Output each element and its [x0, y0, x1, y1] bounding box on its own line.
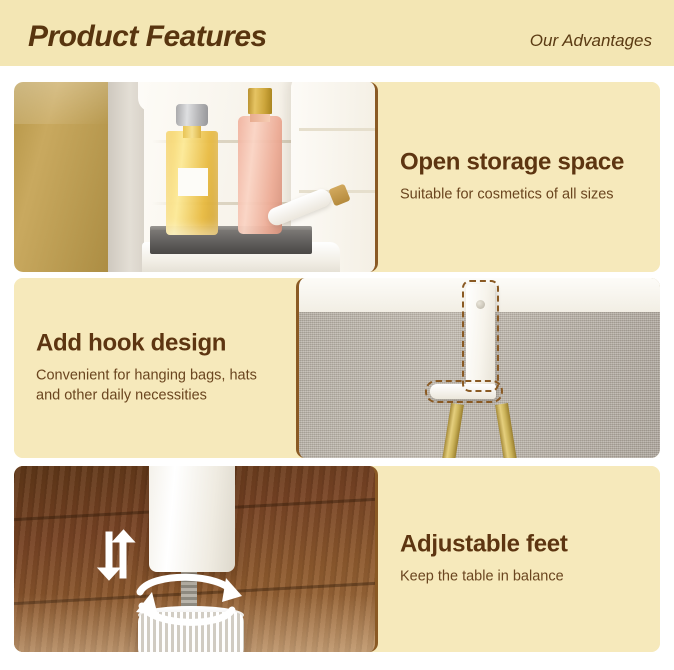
product-features-infographic: Product Features Our Advantages	[0, 0, 674, 670]
feature-title: Add hook design	[36, 331, 282, 358]
adjustable-foot-photo	[14, 466, 378, 652]
dashed-highlight-outline	[462, 280, 499, 392]
perfume-silver-cap	[176, 104, 208, 126]
feature-copy-add-hook-design: Add hook design Convenient for hanging b…	[14, 278, 296, 458]
rotation-arrow-indicator	[126, 562, 248, 636]
perfume-bottle-label	[178, 168, 208, 196]
feature-copy-adjustable-feet: Adjustable feet Keep the table in balanc…	[378, 466, 660, 652]
header-subtitle: Our Advantages	[530, 31, 652, 51]
white-table-leg	[149, 466, 235, 572]
feature-description: Suitable for cosmetics of all sizes	[400, 184, 646, 204]
cosmetics-on-open-shelf-photo	[14, 82, 378, 272]
door-panel-line	[299, 128, 377, 131]
feature-row-open-storage-space: Open storage space Suitable for cosmetic…	[14, 82, 660, 272]
feature-title: Open storage space	[400, 150, 646, 177]
feature-row-adjustable-feet: Adjustable feet Keep the table in balanc…	[14, 466, 660, 652]
perfume-bottle-neck	[183, 124, 201, 138]
feature-description: Keep the table in balance	[400, 566, 646, 586]
feature-row-add-hook-design: Add hook design Convenient for hanging b…	[14, 278, 660, 458]
feature-description: Convenient for hanging bags, hats and ot…	[36, 365, 282, 405]
feature-copy-open-storage-space: Open storage space Suitable for cosmetic…	[378, 82, 660, 272]
gold-cabinet-door	[14, 82, 112, 272]
dashed-highlight-outline	[425, 380, 503, 403]
wall-hook-photo	[296, 278, 660, 458]
pink-bottle-gold-cap	[248, 88, 272, 114]
header-band: Product Features Our Advantages	[0, 0, 674, 66]
feature-title: Adjustable feet	[400, 532, 646, 559]
page-title: Product Features	[28, 20, 267, 54]
